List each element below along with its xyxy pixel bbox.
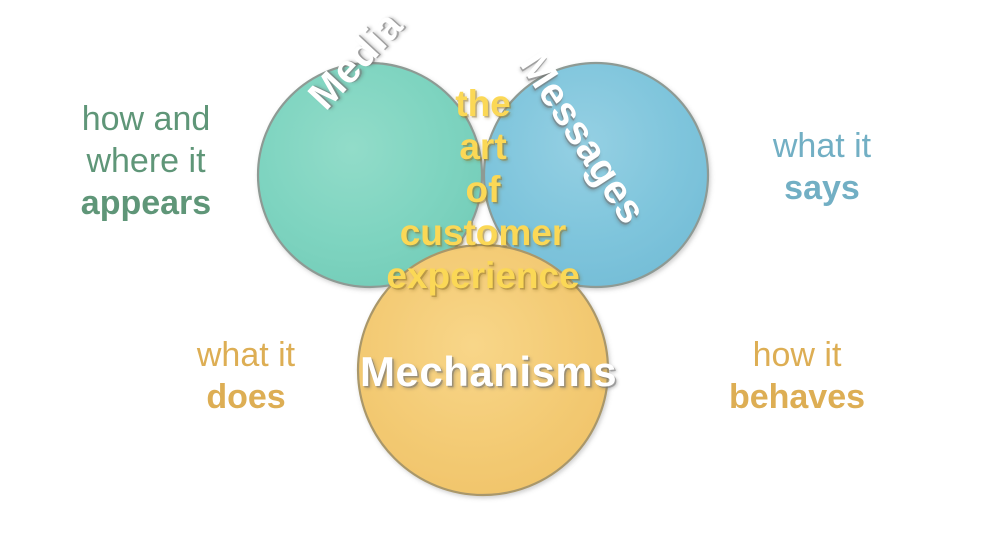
caption-behaves-line1: how it — [672, 334, 922, 376]
caption-appears: how and where it appears — [36, 98, 256, 224]
caption-behaves-bold: behaves — [672, 376, 922, 418]
caption-does-bold: does — [136, 376, 356, 418]
caption-behaves: how it behaves — [672, 334, 922, 418]
circle-mechanisms — [358, 245, 608, 495]
venn-circles-svg — [0, 0, 991, 534]
caption-does: what it does — [136, 334, 356, 418]
caption-says-bold: says — [722, 167, 922, 209]
venn-diagram-canvas: Media Messages Mechanisms the art of cus… — [0, 0, 991, 534]
caption-does-line1: what it — [136, 334, 356, 376]
caption-says: what it says — [722, 125, 922, 209]
caption-appears-line2: where it — [36, 140, 256, 182]
caption-says-line1: what it — [722, 125, 922, 167]
caption-appears-line1: how and — [36, 98, 256, 140]
caption-appears-bold: appears — [36, 182, 256, 224]
